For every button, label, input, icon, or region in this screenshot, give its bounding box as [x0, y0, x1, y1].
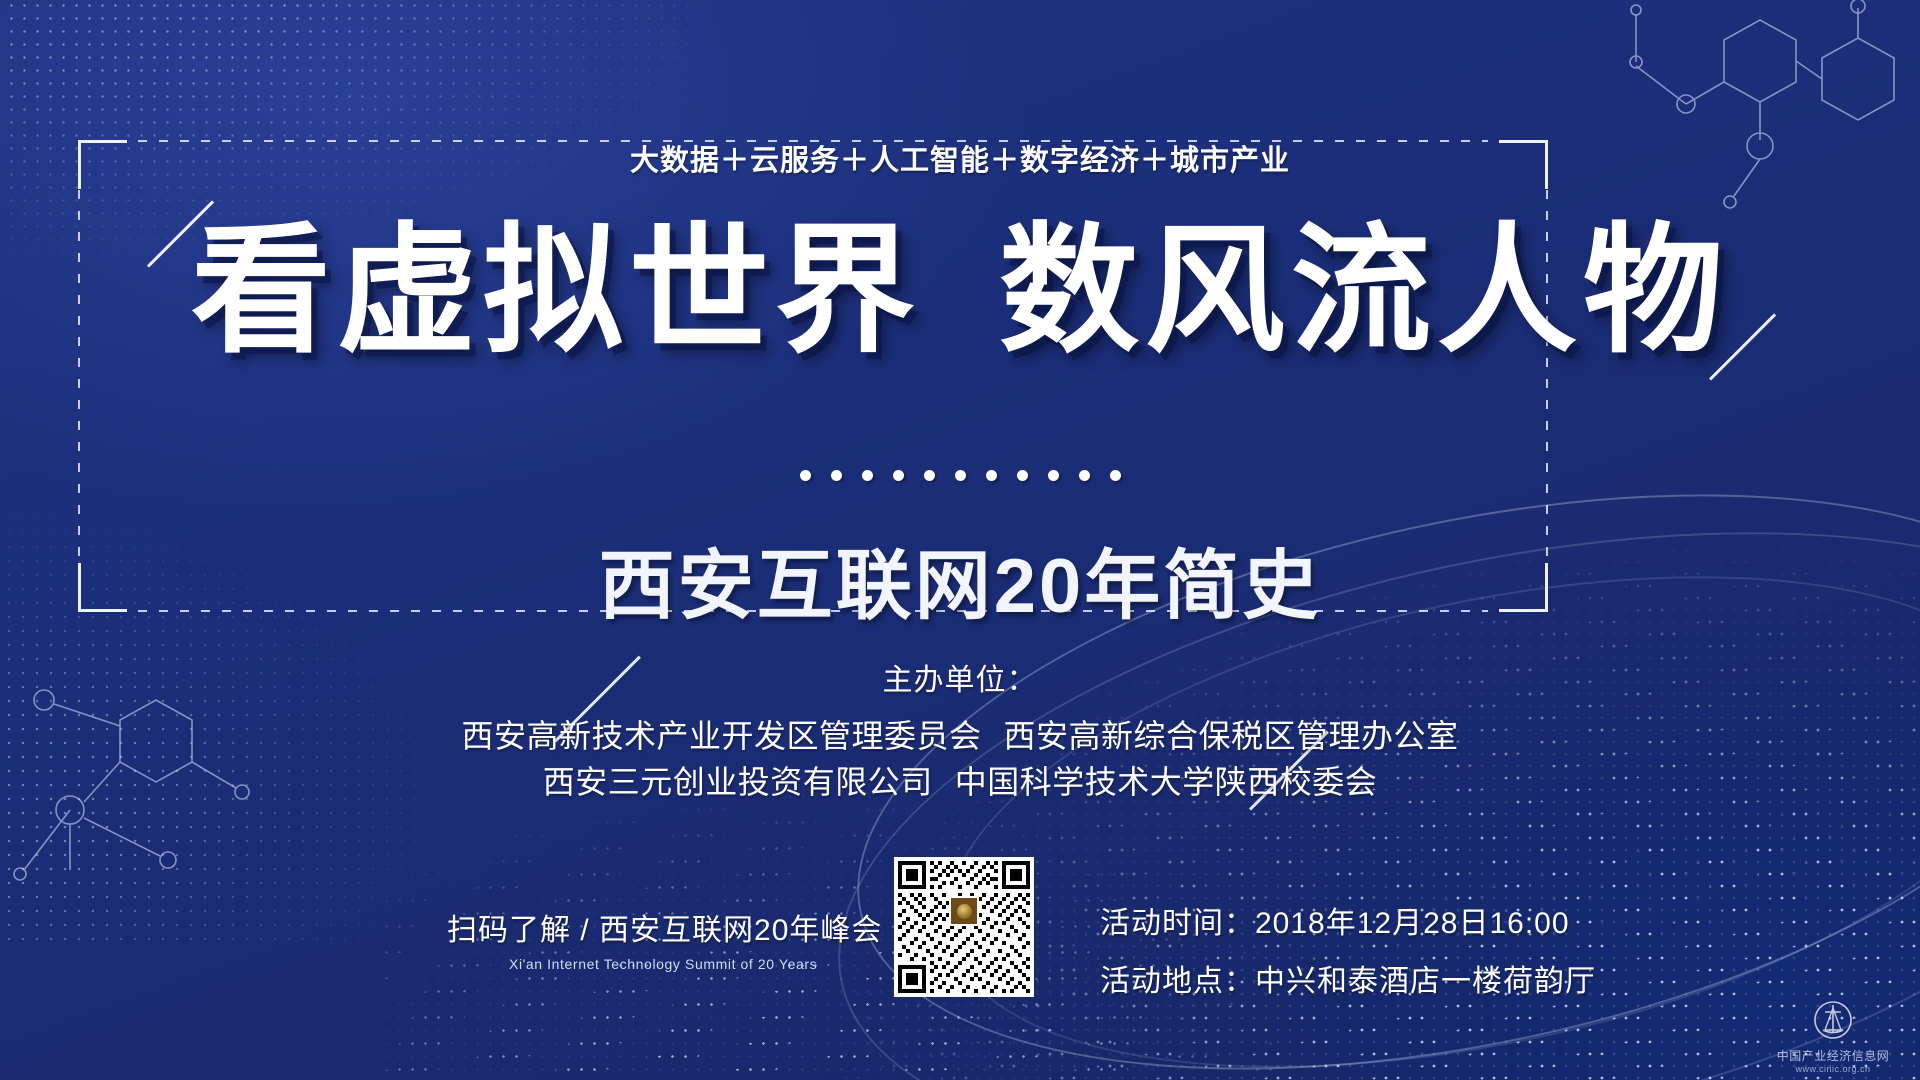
host-label: 主办单位：	[0, 655, 1920, 699]
divider-dot	[831, 470, 842, 481]
scan-block: 扫码了解 / 西安互联网20年峰会 Xi'an Internet Technol…	[447, 905, 867, 972]
headline-left: 看虚拟世界	[191, 212, 921, 369]
event-details: 活动时间：2018年12月28日16:00 活动地点：中兴和泰酒店一楼荷韵厅	[1100, 898, 1596, 1014]
watermark-logo-icon	[1813, 1000, 1853, 1040]
qr-modules	[898, 861, 1030, 993]
dot-divider	[0, 470, 1920, 481]
event-time: 活动时间：2018年12月28日16:00	[1100, 898, 1596, 942]
divider-dot	[1048, 470, 1059, 481]
divider-dot	[862, 470, 873, 481]
headline-right: 数风流人物	[999, 212, 1729, 369]
scan-prompt-cn: 扫码了解 / 西安互联网20年峰会	[447, 905, 867, 949]
divider-dot	[1110, 470, 1121, 481]
divider-dot	[1017, 470, 1028, 481]
scan-prompt-en: Xi'an Internet Technology Summit of 20 Y…	[509, 956, 867, 972]
watermark-name: 中国产业经济信息网	[1758, 1047, 1908, 1064]
qr-grid	[898, 861, 1030, 993]
host-line-2: 西安三元创业投资有限公司中国科学技术大学陕西校委会	[0, 757, 1920, 803]
divider-dot	[893, 470, 904, 481]
host-line-1: 西安高新技术产业开发区管理委员会西安高新综合保税区管理办公室	[0, 711, 1920, 757]
divider-dot	[1079, 470, 1090, 481]
molecule-icon-bottom-left	[0, 660, 300, 950]
watermark: 中国产业经济信息网 www.cinic.org.cn	[1758, 1000, 1908, 1074]
host-org-2: 西安高新综合保税区管理办公室	[1004, 718, 1459, 754]
divider-dot	[800, 470, 811, 481]
host-org-1: 西安高新技术产业开发区管理委员会	[461, 718, 981, 754]
host-org-4: 中国科学技术大学陕西校委会	[955, 764, 1378, 800]
divider-dot	[924, 470, 935, 481]
molecule-icon-top-right	[1574, 0, 1914, 230]
headline: 看虚拟世界数风流人物	[0, 215, 1920, 366]
subtitle: 西安互联网20年简史	[0, 524, 1920, 634]
tagline: 大数据＋云服务＋人工智能＋数字经济＋城市产业	[0, 137, 1920, 179]
divider-dot	[986, 470, 997, 481]
poster-canvas: 大数据＋云服务＋人工智能＋数字经济＋城市产业 看虚拟世界数风流人物 西安互联网2…	[0, 0, 1920, 1080]
divider-dot	[955, 470, 966, 481]
watermark-url: www.cinic.org.cn	[1758, 1064, 1908, 1074]
host-org-3: 西安三元创业投资有限公司	[543, 764, 933, 800]
event-place: 活动地点：中兴和泰酒店一楼荷韵厅	[1100, 956, 1596, 1000]
qr-code[interactable]	[894, 857, 1034, 997]
qr-center-logo	[949, 896, 979, 926]
